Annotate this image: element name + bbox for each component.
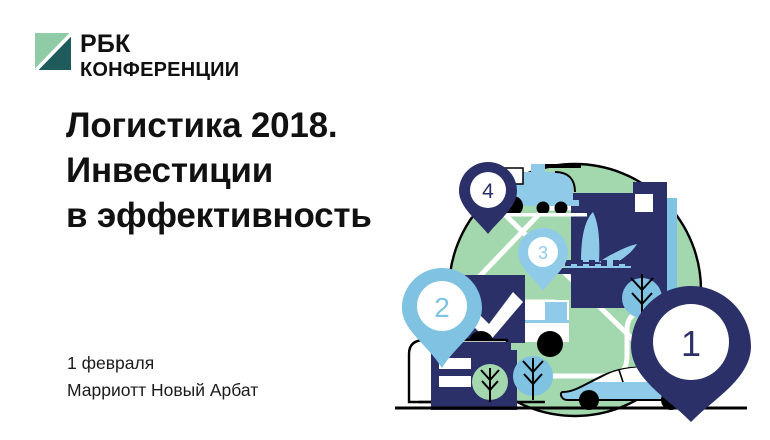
map-pin-1[interactable]: 1 <box>631 286 751 422</box>
train-wheel <box>537 202 550 215</box>
map-pin-1-label: 1 <box>681 323 701 364</box>
event-date: 1 февраля <box>67 350 258 377</box>
brand-logo-wordmark: РБК КОНФЕРЕНЦИИ <box>80 31 239 80</box>
brand-logo-line-2: КОНФЕРЕНЦИИ <box>80 60 239 80</box>
brand-logo: РБК КОНФЕРЕНЦИИ <box>35 31 239 80</box>
presentation-slide: РБК КОНФЕРЕНЦИИ Логистика 2018. Инвестиц… <box>0 0 770 440</box>
train-wheel <box>555 202 568 215</box>
rbk-square-diagonal-logo <box>35 31 71 72</box>
map-pin-3-label: 3 <box>538 243 548 263</box>
slide-title-line-1: Логистика 2018. <box>66 104 466 149</box>
brand-logo-line-1: РБК <box>80 32 239 57</box>
map-pin-4-label: 4 <box>482 180 494 203</box>
event-details: 1 февраля Марриотт Новый Арбат <box>67 350 258 403</box>
truck-wheel <box>537 331 563 357</box>
warehouse-window <box>439 376 471 387</box>
event-venue: Марриотт Новый Арбат <box>67 377 258 404</box>
map-pin-2-label: 2 <box>434 292 450 323</box>
logistics-scene-illustration: 4 3 2 1 <box>395 150 755 422</box>
